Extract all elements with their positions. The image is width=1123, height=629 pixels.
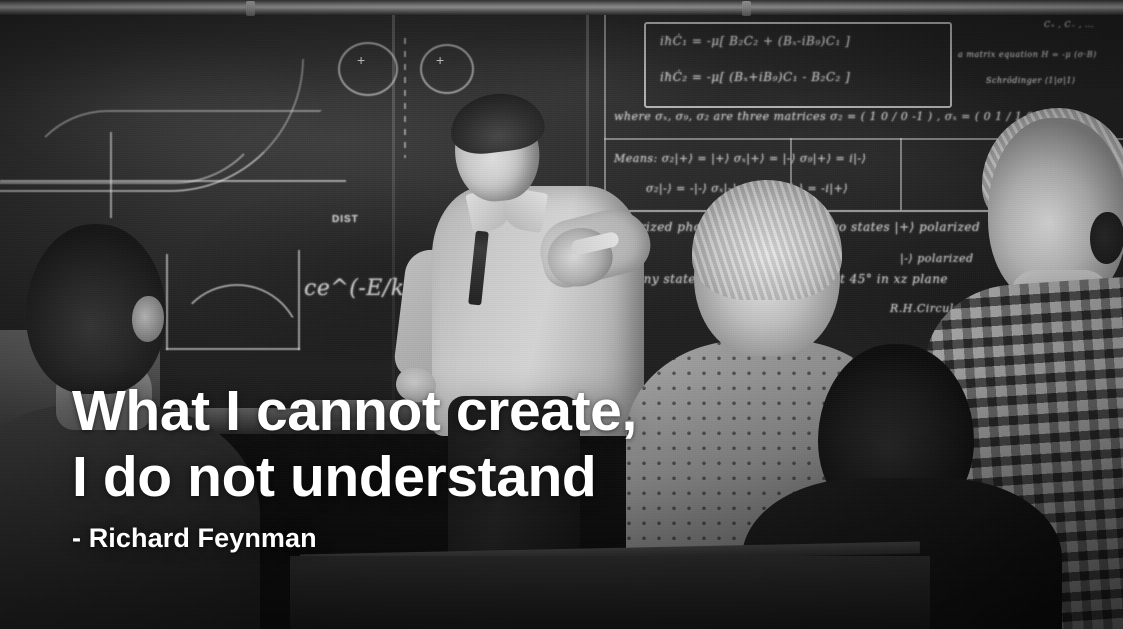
rail-clip: [246, 1, 255, 16]
quote-attribution: - Richard Feynman: [72, 523, 317, 554]
quote-line-1: What I cannot create,: [72, 378, 637, 444]
chalk-spin-circle: [338, 42, 398, 96]
chalk-tick: [110, 132, 112, 218]
board-frame: [900, 138, 902, 210]
chalk-plus-marker: +: [436, 52, 444, 68]
quote-image: DIST ce^(-E/kT) + + + iħĊ₁ = -μ[ B₂C₂ + …: [0, 0, 1123, 629]
chalk-plus-marker: +: [357, 52, 365, 68]
chalk-graph-axis-y: [166, 254, 168, 350]
quote-line-2: I do not understand: [72, 444, 637, 510]
chalk-spin-circle: [420, 44, 474, 94]
chalk-equation-box: [644, 22, 952, 108]
blackboard-rail: [0, 0, 1123, 15]
chalk-rising-curve: [18, 110, 322, 200]
chalk-dashed-divider: [404, 38, 406, 158]
student-plaid-ear: [1090, 212, 1123, 264]
desk-front: [290, 556, 930, 629]
rail-clip: [742, 1, 751, 16]
quote-text: What I cannot create, I do not understan…: [72, 378, 637, 510]
